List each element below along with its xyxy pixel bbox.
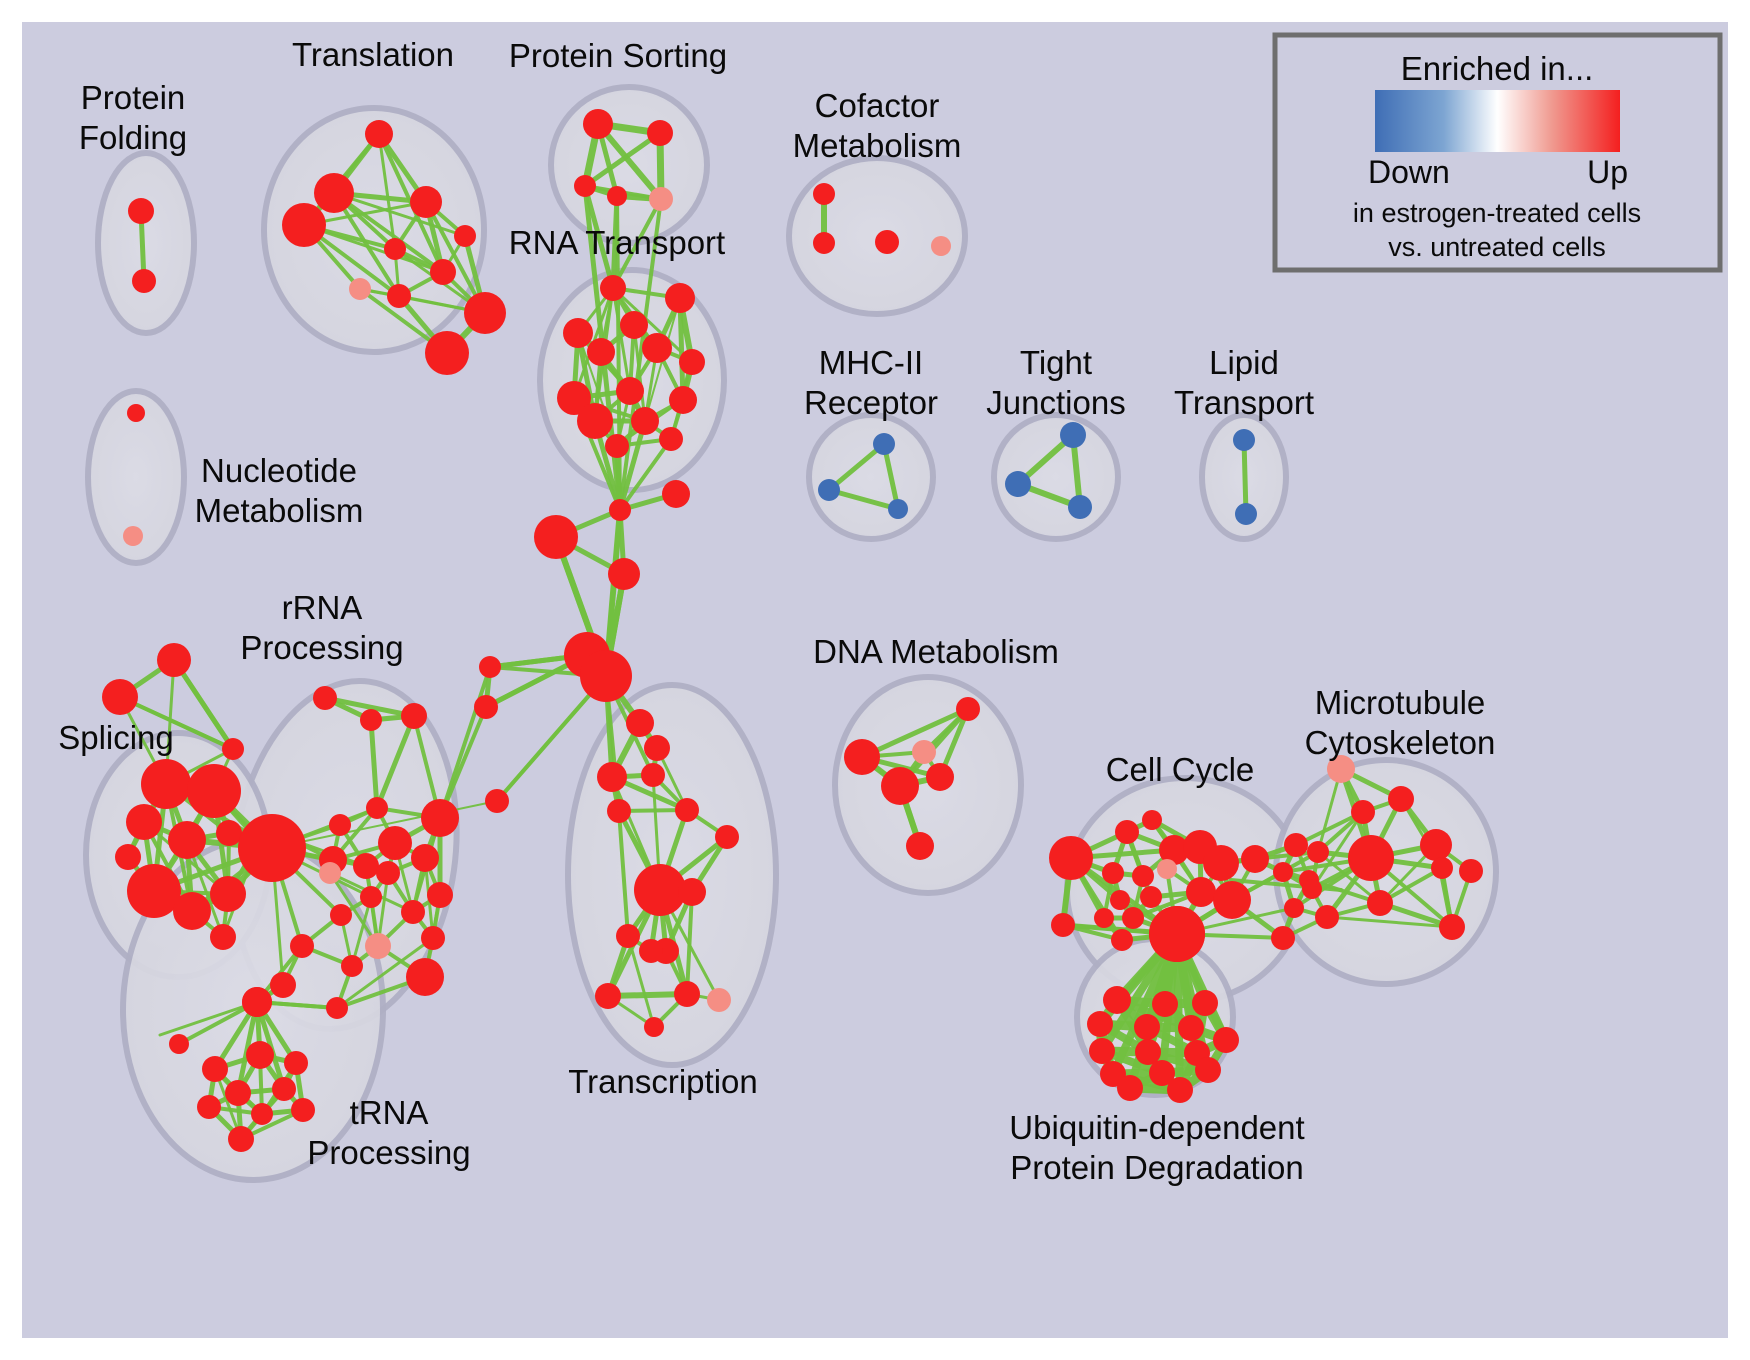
- gene-set-node[interactable]: [875, 230, 899, 254]
- gene-set-node[interactable]: [813, 183, 835, 205]
- gene-set-node[interactable]: [246, 1041, 274, 1069]
- legend-caption-line-1: in estrogen-treated cells: [1353, 198, 1641, 228]
- gene-set-node[interactable]: [600, 275, 626, 301]
- gene-set-node[interactable]: [662, 480, 690, 508]
- gene-set-node[interactable]: [631, 407, 659, 435]
- gene-set-node[interactable]: [474, 695, 498, 719]
- gene-set-node[interactable]: [1110, 890, 1130, 910]
- gene-set-node[interactable]: [605, 434, 629, 458]
- gene-set-node[interactable]: [1102, 862, 1124, 884]
- gene-set-node[interactable]: [926, 763, 954, 791]
- cluster-label-protein-sorting: Protein Sorting: [509, 37, 727, 74]
- gene-set-node[interactable]: [873, 433, 895, 455]
- gene-set-node[interactable]: [679, 349, 705, 375]
- gene-set-node[interactable]: [906, 832, 934, 860]
- gene-set-node[interactable]: [1388, 786, 1414, 812]
- gene-set-node[interactable]: [1186, 877, 1216, 907]
- gene-set-node[interactable]: [1115, 820, 1139, 844]
- gene-set-node[interactable]: [844, 739, 880, 775]
- gene-set-node[interactable]: [1094, 908, 1114, 928]
- gene-set-node[interactable]: [1132, 865, 1154, 887]
- gene-set-node[interactable]: [607, 799, 631, 823]
- legend-title: Enriched in...: [1401, 50, 1594, 87]
- gene-set-node[interactable]: [888, 499, 908, 519]
- legend-caption-line-2: vs. untreated cells: [1388, 232, 1606, 262]
- gene-set-node[interactable]: [225, 1080, 251, 1106]
- gene-set-node[interactable]: [411, 844, 439, 872]
- gene-set-node[interactable]: [216, 820, 242, 846]
- legend-color-bar: [1375, 90, 1620, 152]
- gene-set-node[interactable]: [580, 650, 632, 702]
- cluster-label-rna-transport: RNA Transport: [509, 224, 725, 261]
- gene-set-node[interactable]: [1140, 886, 1162, 908]
- gene-set-node[interactable]: [132, 269, 156, 293]
- gene-set-node[interactable]: [314, 173, 354, 213]
- gene-set-node[interactable]: [1167, 1077, 1193, 1103]
- gene-set-node[interactable]: [616, 377, 644, 405]
- gene-set-node[interactable]: [421, 799, 459, 837]
- gene-set-node[interactable]: [665, 283, 695, 313]
- gene-set-node[interactable]: [123, 526, 143, 546]
- gene-set-node[interactable]: [577, 403, 613, 439]
- gene-set-node[interactable]: [485, 789, 509, 813]
- gene-set-node[interactable]: [330, 904, 352, 926]
- gene-set-node[interactable]: [387, 284, 411, 308]
- gene-set-node[interactable]: [1089, 1038, 1115, 1064]
- gene-set-node[interactable]: [574, 175, 596, 197]
- gene-set-node[interactable]: [1149, 906, 1205, 962]
- cluster-ellipse-dna-metabolism[interactable]: [835, 677, 1021, 893]
- gene-set-node[interactable]: [115, 844, 141, 870]
- gene-set-node[interactable]: [1117, 1075, 1143, 1101]
- gene-set-node[interactable]: [609, 499, 631, 521]
- enrichment-network-figure: ProteinFoldingTranslationProtein Sorting…: [0, 0, 1750, 1360]
- gene-set-node[interactable]: [1178, 1015, 1204, 1041]
- gene-set-node[interactable]: [1439, 914, 1465, 940]
- gene-set-node[interactable]: [1203, 845, 1239, 881]
- gene-set-node[interactable]: [669, 386, 697, 414]
- gene-set-node[interactable]: [222, 738, 244, 760]
- gene-set-node[interactable]: [202, 1056, 228, 1082]
- gene-set-node[interactable]: [401, 900, 425, 924]
- gene-set-node[interactable]: [141, 759, 191, 809]
- cluster-label-dna-metabolism: DNA Metabolism: [813, 633, 1059, 670]
- gene-set-node[interactable]: [242, 987, 272, 1017]
- gene-set-node[interactable]: [1005, 471, 1031, 497]
- gene-set-node[interactable]: [326, 997, 348, 1019]
- gene-set-node[interactable]: [126, 804, 162, 840]
- gene-set-node[interactable]: [291, 1098, 315, 1122]
- gene-set-node[interactable]: [168, 821, 206, 859]
- gene-set-node[interactable]: [169, 1034, 189, 1054]
- gene-set-node[interactable]: [1213, 1027, 1239, 1053]
- gene-set-node[interactable]: [1051, 913, 1075, 937]
- gene-set-node[interactable]: [210, 924, 236, 950]
- cluster-label-translation: Translation: [292, 36, 454, 73]
- gene-set-node[interactable]: [1213, 881, 1251, 919]
- gene-set-node[interactable]: [715, 825, 739, 849]
- gene-set-node[interactable]: [238, 814, 306, 882]
- legend-low-label: Down: [1368, 154, 1450, 190]
- gene-set-node[interactable]: [187, 764, 241, 818]
- gene-set-node[interactable]: [1235, 503, 1257, 525]
- gene-set-node[interactable]: [384, 238, 406, 260]
- network-canvas: ProteinFoldingTranslationProtein Sorting…: [0, 0, 1750, 1360]
- gene-set-node[interactable]: [173, 892, 211, 930]
- gene-set-node[interactable]: [1157, 859, 1177, 879]
- gene-set-node[interactable]: [366, 797, 388, 819]
- gene-set-node[interactable]: [1307, 841, 1329, 863]
- gene-set-node[interactable]: [1049, 836, 1093, 880]
- edge-lipid-transport: [1244, 440, 1246, 514]
- gene-set-node[interactable]: [1192, 990, 1218, 1016]
- gene-set-node[interactable]: [421, 926, 445, 950]
- gene-set-node[interactable]: [360, 886, 382, 908]
- gene-set-node[interactable]: [425, 331, 469, 375]
- gene-set-node[interactable]: [1348, 835, 1394, 881]
- cluster-ellipse-protein-folding[interactable]: [98, 153, 194, 333]
- gene-set-node[interactable]: [1273, 862, 1293, 882]
- gene-set-node[interactable]: [378, 826, 412, 860]
- gene-set-node[interactable]: [678, 878, 706, 906]
- gene-set-node[interactable]: [597, 762, 627, 792]
- gene-set-node[interactable]: [881, 767, 919, 805]
- gene-set-node[interactable]: [534, 515, 578, 559]
- gene-set-node[interactable]: [290, 934, 314, 958]
- gene-set-node[interactable]: [341, 955, 363, 977]
- gene-set-node[interactable]: [1152, 991, 1178, 1017]
- gene-set-node[interactable]: [1134, 1014, 1160, 1040]
- gene-set-node[interactable]: [157, 643, 191, 677]
- gene-set-node[interactable]: [1284, 898, 1304, 918]
- gene-set-node[interactable]: [607, 186, 627, 206]
- gene-set-node[interactable]: [272, 1077, 296, 1101]
- gene-set-node[interactable]: [197, 1095, 221, 1119]
- gene-set-node[interactable]: [1459, 859, 1483, 883]
- gene-set-node[interactable]: [365, 120, 393, 148]
- gene-set-node[interactable]: [319, 862, 341, 884]
- gene-set-node[interactable]: [595, 983, 621, 1009]
- gene-set-node[interactable]: [479, 656, 501, 678]
- gene-set-node[interactable]: [675, 798, 699, 822]
- gene-set-node[interactable]: [1241, 845, 1269, 873]
- gene-set-node[interactable]: [376, 861, 400, 885]
- legend: Enriched in... Down Up in estrogen-treat…: [1275, 35, 1720, 270]
- gene-set-node[interactable]: [349, 278, 371, 300]
- gene-set-node[interactable]: [647, 120, 673, 146]
- gene-set-node[interactable]: [639, 939, 663, 963]
- gene-set-node[interactable]: [128, 198, 154, 224]
- gene-set-node[interactable]: [1271, 926, 1295, 950]
- gene-set-node[interactable]: [1060, 422, 1086, 448]
- gene-set-node[interactable]: [251, 1103, 273, 1125]
- gene-set-node[interactable]: [365, 933, 391, 959]
- edge-rna-transport: [680, 298, 683, 400]
- gene-set-node[interactable]: [270, 972, 296, 998]
- gene-set-node[interactable]: [641, 763, 665, 787]
- gene-set-node[interactable]: [1068, 495, 1092, 519]
- gene-set-node[interactable]: [1195, 1057, 1221, 1083]
- gene-set-node[interactable]: [931, 236, 951, 256]
- gene-set-node[interactable]: [464, 292, 506, 334]
- gene-set-node[interactable]: [644, 1017, 664, 1037]
- gene-set-node[interactable]: [818, 479, 840, 501]
- gene-set-node[interactable]: [1431, 857, 1453, 879]
- gene-set-node[interactable]: [813, 232, 835, 254]
- gene-set-node[interactable]: [674, 981, 700, 1007]
- gene-set-node[interactable]: [1122, 907, 1144, 929]
- gene-set-node[interactable]: [401, 703, 427, 729]
- gene-set-node[interactable]: [587, 338, 615, 366]
- gene-set-node[interactable]: [1420, 829, 1452, 861]
- gene-set-node[interactable]: [454, 225, 476, 247]
- gene-set-node[interactable]: [430, 259, 456, 285]
- gene-set-node[interactable]: [616, 924, 640, 948]
- gene-set-node[interactable]: [329, 814, 351, 836]
- gene-set-node[interactable]: [406, 958, 444, 996]
- gene-set-node[interactable]: [1087, 1011, 1113, 1037]
- gene-set-node[interactable]: [583, 109, 613, 139]
- gene-set-node[interactable]: [956, 697, 980, 721]
- gene-set-node[interactable]: [563, 318, 593, 348]
- gene-set-node[interactable]: [127, 404, 145, 422]
- gene-set-node[interactable]: [620, 311, 648, 339]
- gene-set-node[interactable]: [1284, 833, 1308, 857]
- gene-set-node[interactable]: [284, 1051, 308, 1075]
- gene-set-node[interactable]: [707, 988, 731, 1012]
- cluster-label-transcription: Transcription: [568, 1063, 758, 1100]
- gene-set-node[interactable]: [626, 709, 654, 737]
- gene-set-node[interactable]: [1103, 986, 1131, 1014]
- gene-set-node[interactable]: [1351, 800, 1375, 824]
- gene-set-node[interactable]: [912, 740, 936, 764]
- gene-set-node[interactable]: [353, 853, 379, 879]
- gene-set-node[interactable]: [282, 203, 326, 247]
- gene-set-node[interactable]: [1367, 890, 1393, 916]
- cluster-ellipse-mhc-ii-receptor[interactable]: [809, 415, 933, 539]
- legend-high-label: Up: [1587, 154, 1628, 190]
- gene-set-node[interactable]: [1315, 905, 1339, 929]
- gene-set-node[interactable]: [659, 427, 683, 451]
- gene-set-node[interactable]: [649, 187, 673, 211]
- gene-set-node[interactable]: [608, 558, 640, 590]
- gene-set-node[interactable]: [642, 333, 672, 363]
- gene-set-node[interactable]: [427, 882, 453, 908]
- gene-set-node[interactable]: [228, 1126, 254, 1152]
- gene-set-node[interactable]: [410, 186, 442, 218]
- gene-set-node[interactable]: [313, 686, 337, 710]
- gene-set-node[interactable]: [644, 735, 670, 761]
- gene-set-node[interactable]: [102, 679, 138, 715]
- gene-set-node[interactable]: [1142, 810, 1162, 830]
- gene-set-node[interactable]: [360, 709, 382, 731]
- gene-set-node[interactable]: [210, 876, 246, 912]
- gene-set-node[interactable]: [127, 864, 181, 918]
- gene-set-node[interactable]: [1302, 879, 1322, 899]
- cluster-label-splicing: Splicing: [58, 719, 174, 756]
- gene-set-node[interactable]: [1233, 429, 1255, 451]
- cluster-label-cell-cycle: Cell Cycle: [1106, 751, 1255, 788]
- gene-set-node[interactable]: [1111, 929, 1133, 951]
